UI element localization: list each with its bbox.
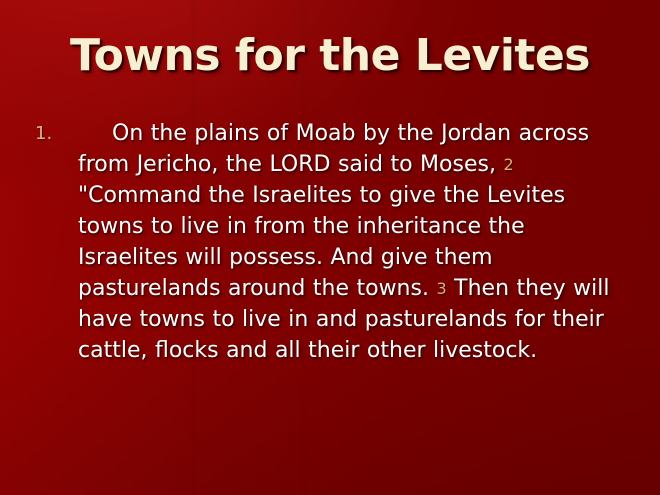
list-marker-1: 1. (33, 118, 78, 149)
scripture-paragraph: On the plains of Moab by the Jordan acro… (78, 118, 627, 366)
slide-title: Towns for the Levites (0, 30, 660, 82)
presentation-slide: Towns for the Levites 1. On the plains o… (0, 0, 660, 495)
verse-number-2: 2 (503, 155, 513, 174)
verse-number-3: 3 (436, 279, 446, 298)
slide-body: 1. On the plains of Moab by the Jordan a… (33, 118, 627, 366)
